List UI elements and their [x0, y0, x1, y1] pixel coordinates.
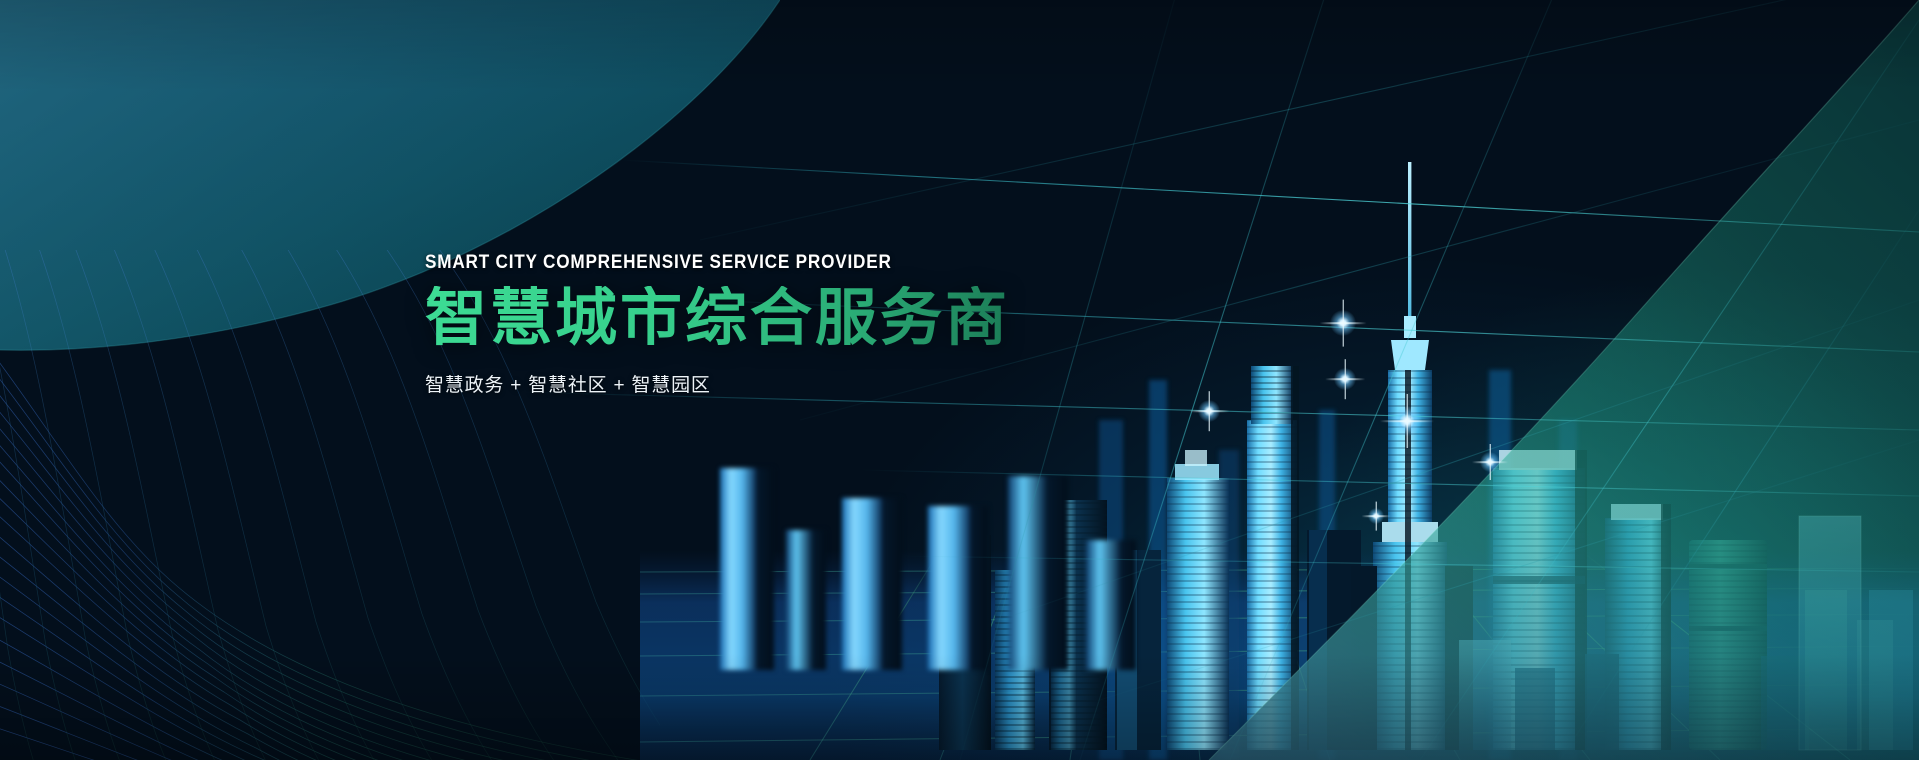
hero-subline: 智慧政务 + 智慧社区 + 智慧园区 [425, 370, 1105, 397]
hero-headline: 智慧城市综合服务商 [425, 286, 1105, 352]
hero-copy-block: SMART CITY COMPREHENSIVE SERVICE PROVIDE… [425, 252, 1105, 397]
hero-eyebrow: SMART CITY COMPREHENSIVE SERVICE PROVIDE… [425, 252, 1023, 273]
hero-banner: SMART CITY COMPREHENSIVE SERVICE PROVIDE… [0, 0, 1919, 760]
